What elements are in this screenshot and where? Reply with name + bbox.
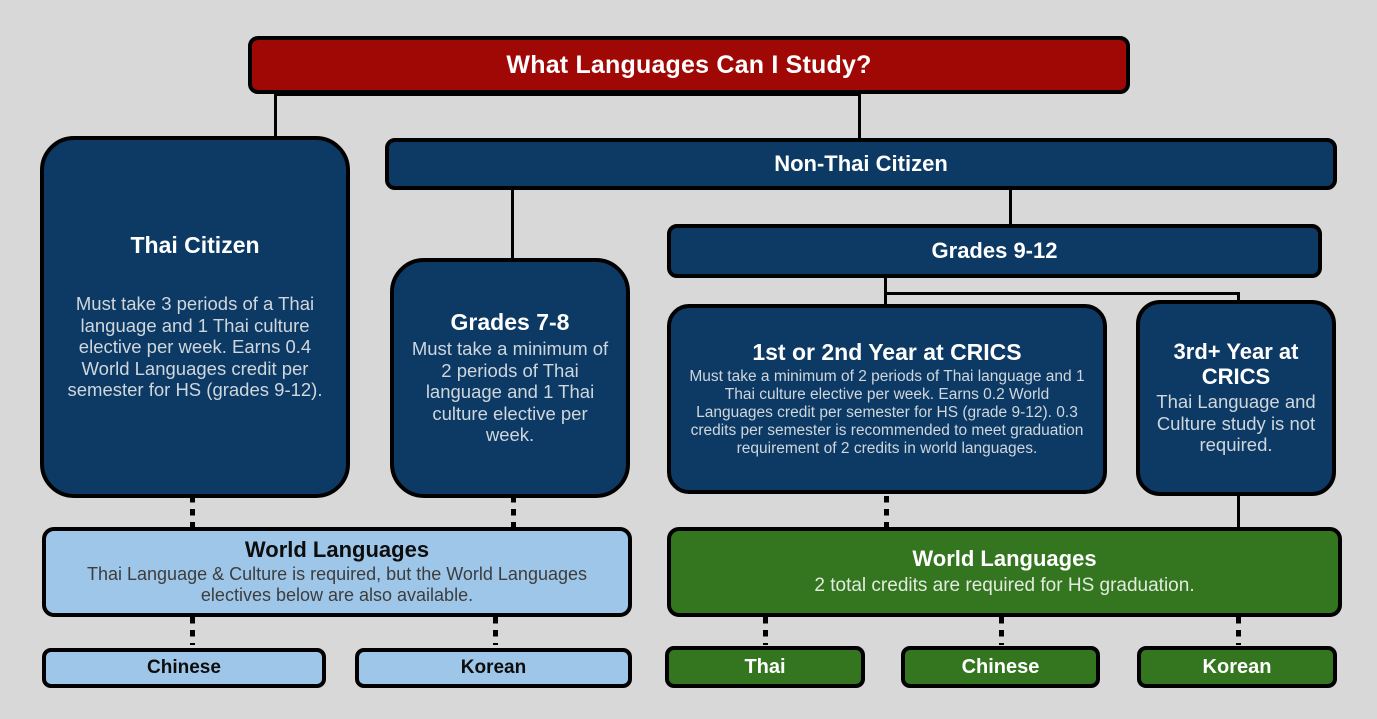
thai-citizen-heading: Thai Citizen — [130, 233, 259, 259]
connector-nonthai-to-grades912 — [1009, 188, 1012, 224]
language-thai-right-label: Thai — [744, 656, 785, 678]
node-language-chinese-right[interactable]: Chinese — [901, 646, 1100, 688]
connector-wl-right-to-korean — [1236, 617, 1241, 645]
thai-citizen-body: Must take 3 periods of a Thai language a… — [58, 293, 332, 400]
node-root-question[interactable]: What Languages Can I Study? — [248, 36, 1130, 94]
crics-3rd-plus-year-heading: 3rd+ Year at CRICS — [1152, 340, 1320, 389]
node-language-korean-right[interactable]: Korean — [1137, 646, 1337, 688]
node-crics-1st-2nd-year[interactable]: 1st or 2nd Year at CRICS Must take a min… — [667, 304, 1107, 494]
language-chinese-right-label: Chinese — [962, 656, 1040, 678]
connector-nonthai-to-grades78 — [511, 188, 514, 260]
language-korean-left-label: Korean — [461, 657, 526, 678]
connector-title-to-non-thai — [858, 93, 861, 138]
connector-crics3-to-world-languages — [1237, 496, 1240, 527]
flowchart-canvas: What Languages Can I Study? Thai Citizen… — [0, 0, 1377, 719]
node-non-thai-citizen[interactable]: Non-Thai Citizen — [385, 138, 1337, 190]
connector-wl-right-to-chinese — [999, 617, 1004, 645]
connector-crics12-to-world-languages — [884, 496, 889, 527]
world-languages-right-heading: World Languages — [912, 547, 1096, 572]
non-thai-citizen-heading: Non-Thai Citizen — [774, 152, 948, 177]
node-grades-9-12[interactable]: Grades 9-12 — [667, 224, 1322, 278]
root-question-label: What Languages Can I Study? — [506, 51, 871, 79]
node-language-chinese-left[interactable]: Chinese — [42, 648, 326, 688]
connector-grades912-horizontal — [884, 292, 1240, 295]
node-world-languages-right[interactable]: World Languages 2 total credits are requ… — [667, 527, 1342, 617]
node-thai-citizen[interactable]: Thai Citizen Must take 3 periods of a Th… — [40, 136, 350, 498]
connector-wl-left-to-chinese — [190, 617, 195, 645]
grades-7-8-body: Must take a minimum of 2 periods of Thai… — [406, 338, 614, 445]
grades-9-12-heading: Grades 9-12 — [932, 239, 1058, 264]
connector-thai-citizen-to-world-languages — [190, 496, 195, 527]
connector-grades912-to-crics12 — [884, 292, 887, 304]
grades-7-8-heading: Grades 7-8 — [451, 310, 570, 336]
crics-3rd-plus-year-body: Thai Language and Culture study is not r… — [1152, 391, 1320, 455]
node-grades-7-8[interactable]: Grades 7-8 Must take a minimum of 2 peri… — [390, 258, 630, 498]
world-languages-right-body: 2 total credits are required for HS grad… — [814, 575, 1194, 597]
world-languages-left-heading: World Languages — [245, 538, 429, 563]
language-chinese-left-label: Chinese — [147, 657, 221, 678]
crics-1st-2nd-year-body: Must take a minimum of 2 periods of Thai… — [687, 368, 1087, 458]
node-crics-3rd-plus-year[interactable]: 3rd+ Year at CRICS Thai Language and Cul… — [1136, 300, 1336, 496]
node-world-languages-left[interactable]: World Languages Thai Language & Culture … — [42, 527, 632, 617]
crics-1st-2nd-year-heading: 1st or 2nd Year at CRICS — [752, 340, 1021, 366]
language-korean-right-label: Korean — [1203, 656, 1272, 678]
connector-title-to-thai-citizen — [274, 93, 277, 138]
connector-wl-left-to-korean — [493, 617, 498, 645]
node-language-thai-right[interactable]: Thai — [665, 646, 865, 688]
node-language-korean-left[interactable]: Korean — [355, 648, 632, 688]
connector-wl-right-to-thai — [763, 617, 768, 645]
connector-grades78-to-world-languages — [511, 496, 516, 527]
world-languages-left-body: Thai Language & Culture is required, but… — [62, 564, 612, 606]
